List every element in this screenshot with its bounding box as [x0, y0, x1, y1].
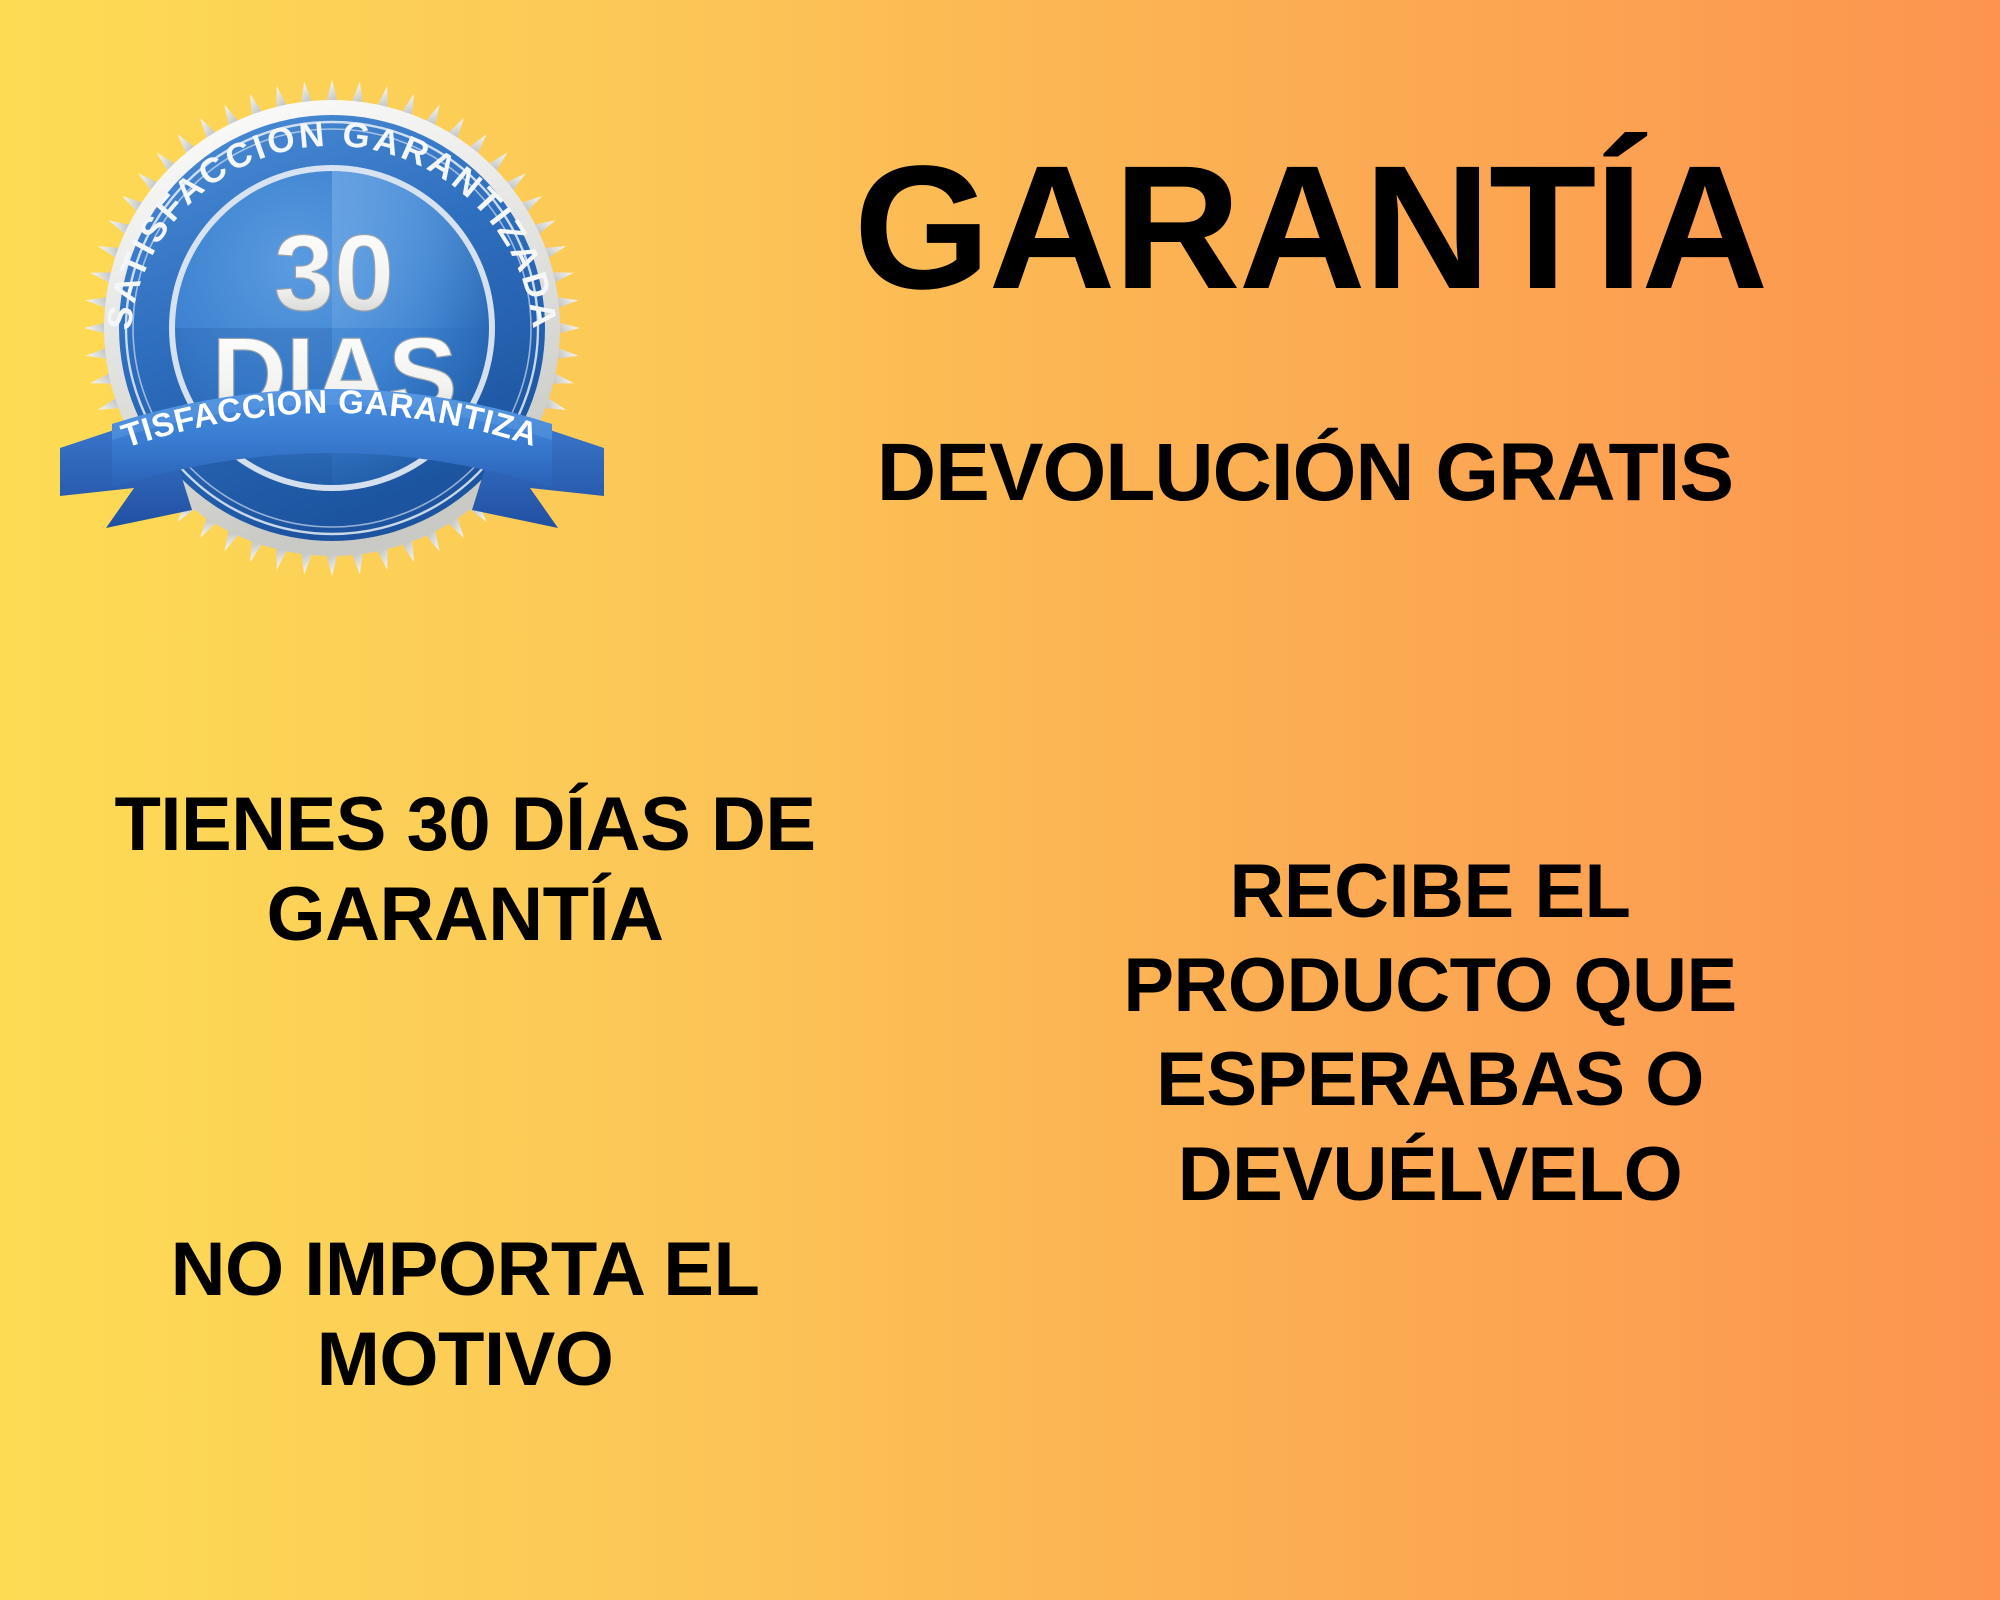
benefit-text-30-days-warranty: TIENES 30 DÍAS DE GARANTÍA	[50, 780, 880, 959]
subtitle-free-return: DEVOLUCIÓN GRATIS	[640, 430, 1970, 517]
page-title: GARANTÍA	[660, 140, 1960, 316]
badge-days-number: 30	[274, 212, 394, 333]
guarantee-poster: • SATISFACCION GARANTIZADA • 30 DIAS	[0, 0, 2000, 1600]
benefit-text-no-reason-needed: NO IMPORTA EL MOTIVO	[50, 1225, 880, 1404]
guarantee-badge: • SATISFACCION GARANTIZADA • 30 DIAS	[42, 58, 662, 528]
benefit-text-expected-product-or-return: RECIBE EL PRODUCTO QUE ESPERABAS O DEVUÉ…	[900, 845, 1960, 1222]
